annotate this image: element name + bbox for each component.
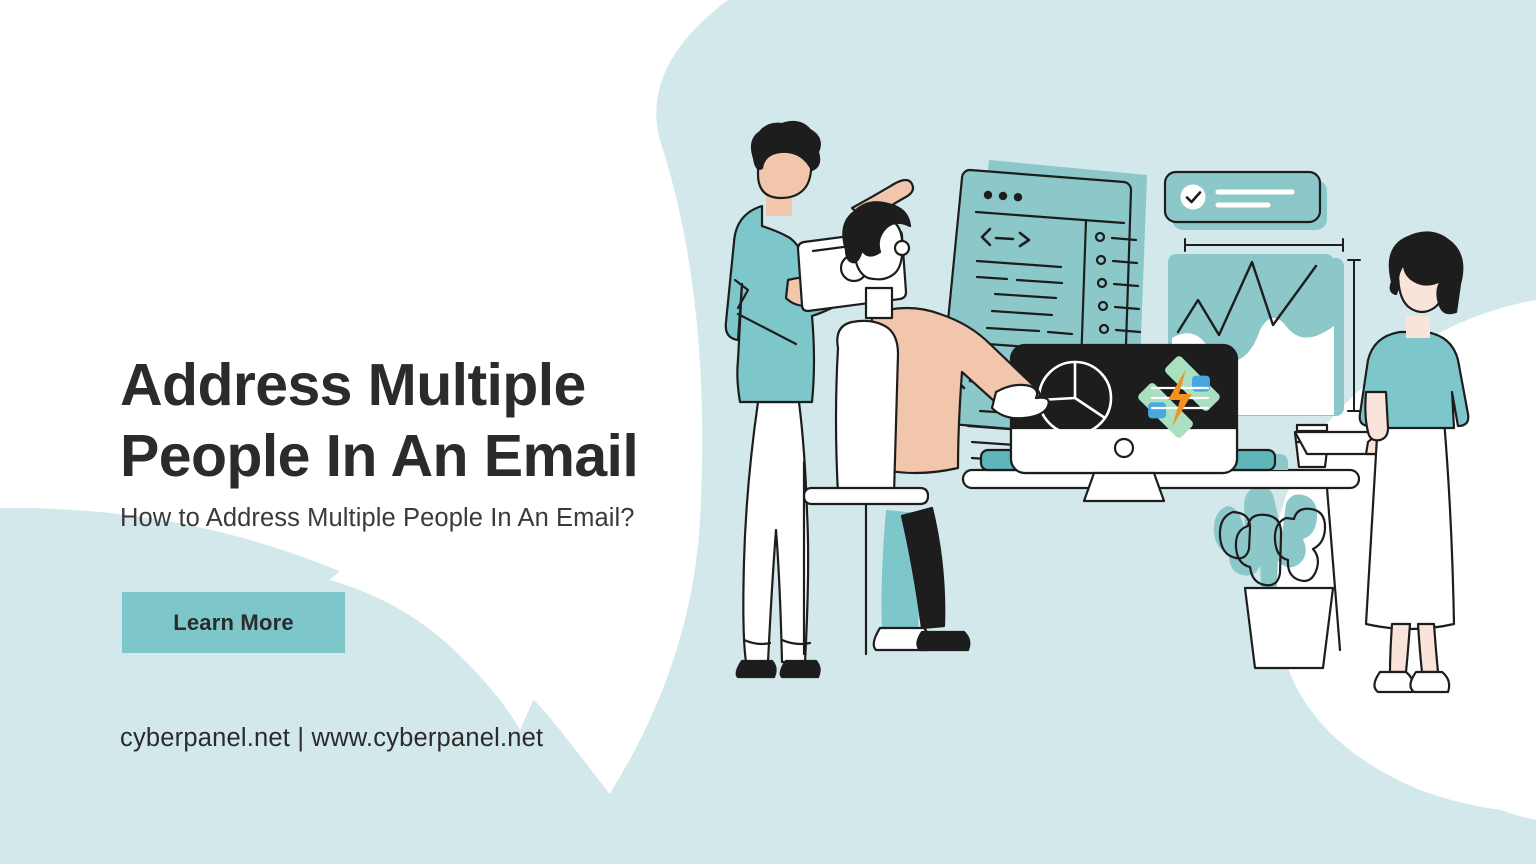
woman-earring [895, 241, 909, 255]
poster-canvas: Address Multiple People In An Email How … [0, 0, 1536, 864]
page-subtitle: How to Address Multiple People In An Ema… [120, 500, 680, 536]
man-shoe-right [781, 661, 820, 677]
footer-website-url[interactable]: cyberpanel.net | www.cyberpanel.net [120, 724, 543, 753]
woman2-shoe-right [1410, 672, 1449, 692]
woman2-shoe-left [1374, 672, 1413, 692]
monitor-power-dot [1115, 439, 1133, 457]
man-shoe-left [737, 661, 776, 677]
chart-measure-top [1185, 239, 1343, 251]
page-title-line-2: People In An Email [120, 421, 740, 493]
woman2-arm [1365, 392, 1388, 440]
monitor-stand [1084, 473, 1164, 501]
hero-content: Address Multiple People In An Email How … [0, 0, 740, 864]
woman2-legs [1390, 624, 1438, 672]
learn-more-button[interactable]: Learn More [122, 592, 345, 653]
woman-neck [866, 288, 892, 318]
woman-shoe-back [917, 632, 969, 650]
office-chair-seat [804, 488, 928, 504]
page-title: Address Multiple People In An Email [120, 350, 740, 494]
man-trousers [743, 402, 808, 662]
chart-measure-right [1348, 260, 1360, 411]
page-title-line-1: Address Multiple [120, 352, 586, 418]
woman2-neck [1406, 316, 1430, 338]
office-chair-back [836, 321, 898, 494]
illustration-artwork [700, 120, 1536, 730]
woman2-skirt [1366, 420, 1454, 629]
check-circle-icon [1181, 185, 1206, 210]
plant-pot [1245, 588, 1333, 668]
